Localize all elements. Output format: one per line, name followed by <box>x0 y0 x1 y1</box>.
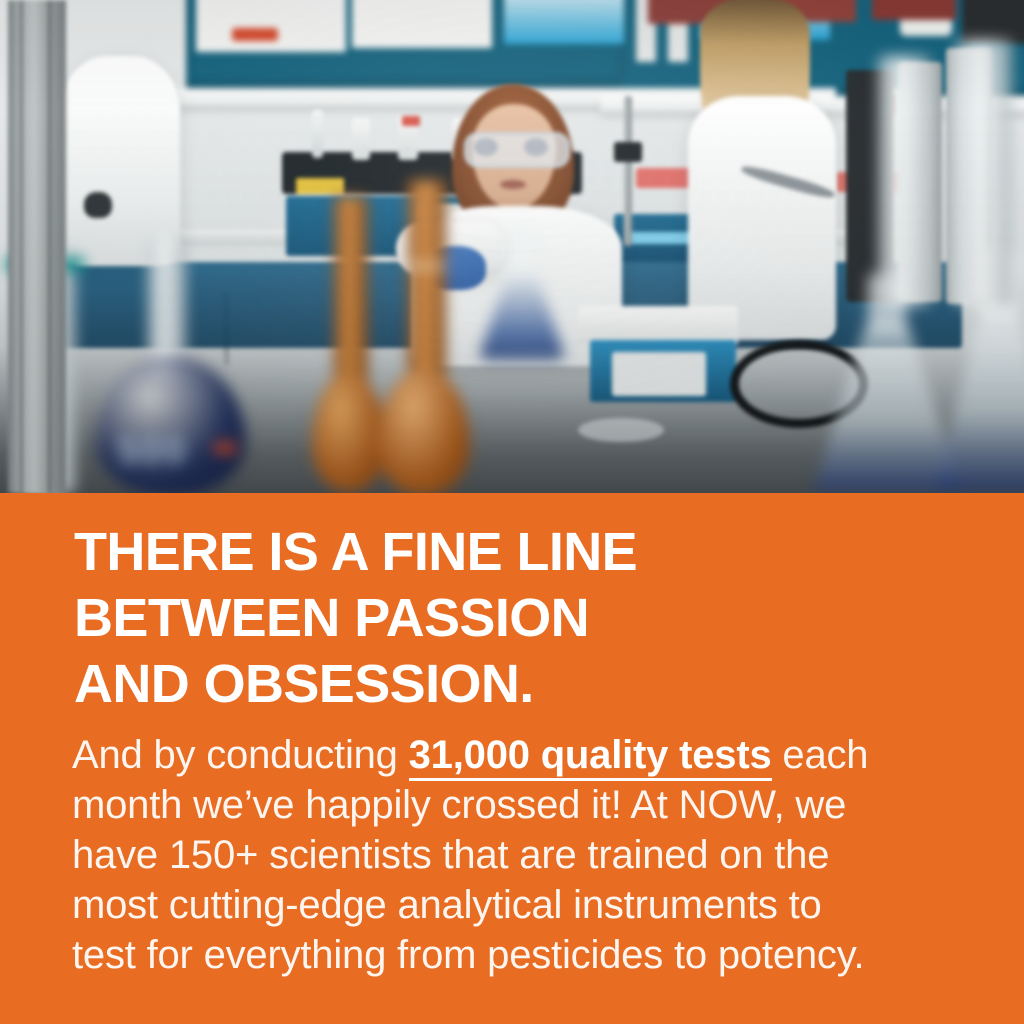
amber-flask-1-bulb <box>312 372 386 492</box>
body-line-1-pre: And by conducting <box>72 733 409 777</box>
orange-text-panel: THERE IS A FINE LINE BETWEEN PASSION AND… <box>0 493 1024 1024</box>
tube-rack-yellow-label <box>296 178 344 194</box>
test-tube-4 <box>402 116 420 126</box>
graduated-cylinder-right-2 <box>956 40 1012 306</box>
body-line-2: month we’ve happily crossed it! At NOW, … <box>72 780 938 830</box>
lab-post <box>8 0 66 493</box>
scientist-center-mouth <box>500 180 526 189</box>
promo-poster: 500 <box>0 0 1024 1024</box>
amber-flask-2-mark <box>408 262 446 270</box>
retort-stand-clamp-1 <box>614 142 642 162</box>
body-line-1-post: each <box>772 733 869 777</box>
goggles-lens-right <box>524 138 548 156</box>
page-title: THERE IS A FINE LINE BETWEEN PASSION AND… <box>74 519 954 717</box>
headline-line-3: AND OBSESSION. <box>74 651 954 717</box>
volumetric-flask-500: 500 <box>96 236 246 492</box>
post-seam-2 <box>48 0 51 493</box>
cabinet-box-white-1 <box>196 0 346 52</box>
amber-flask-2 <box>378 180 470 492</box>
scientist-left-hand <box>84 192 112 218</box>
flask-500-bulb <box>96 356 246 493</box>
post-seam-1 <box>20 0 23 493</box>
body-line-5: test for everything from pesticides to p… <box>72 930 938 980</box>
headline-line-2: BETWEEN PASSION <box>74 585 954 651</box>
cabinet-box-dark <box>962 0 1024 44</box>
body-copy: And by conducting 31,000 quality tests e… <box>72 730 938 980</box>
goggles-lens-left <box>474 138 498 156</box>
scientist-left-coat <box>60 56 180 266</box>
balance-panel <box>612 352 706 396</box>
graduated-cylinder-right-1 <box>878 56 930 306</box>
erlenmeyer-center-body <box>478 272 566 360</box>
body-line-3: have 150+ scientists that are trained on… <box>72 830 938 880</box>
petri-dish <box>578 418 664 442</box>
headline-line-1: THERE IS A FINE LINE <box>74 519 954 585</box>
erlenmeyer-right-2-body <box>934 308 1024 493</box>
test-tube-2 <box>352 118 370 160</box>
amber-flask-2-neck <box>408 180 446 392</box>
cabinet-label-red-1 <box>232 28 278 41</box>
amber-flask-1 <box>312 196 386 492</box>
erlenmeyer-center <box>470 228 574 360</box>
amber-flask-1-neck <box>334 196 368 396</box>
flask-500-red-mark <box>214 442 236 454</box>
stat-quality-tests: 31,000 quality tests <box>409 733 772 781</box>
retort-stand-rod-1 <box>624 96 632 246</box>
cabinet-bottle-cyan <box>504 0 624 44</box>
amber-flask-2-bulb <box>378 368 470 493</box>
body-line-4: most cutting-edge analytical instruments… <box>72 880 938 930</box>
flask-500-label: 500 <box>118 432 214 470</box>
lab-photo: 500 <box>0 0 1024 493</box>
cabinet-box-red-3 <box>872 0 956 20</box>
body-line-1: And by conducting 31,000 quality tests e… <box>72 730 938 780</box>
lab-scene: 500 <box>0 0 1024 493</box>
test-tube-1 <box>312 110 323 158</box>
cabinet-box-white-2 <box>352 0 492 48</box>
